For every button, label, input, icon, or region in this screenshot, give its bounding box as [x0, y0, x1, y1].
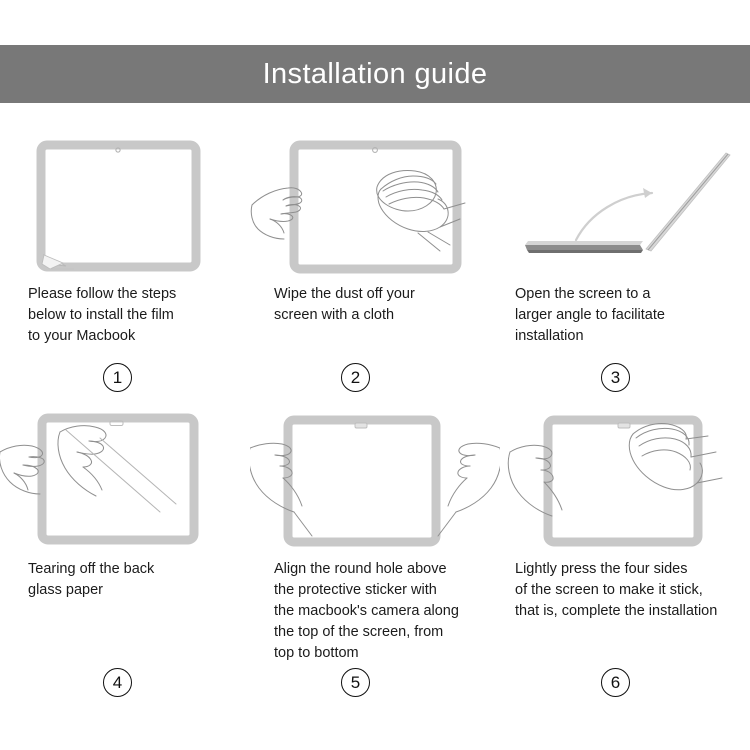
- step-number-badge-1: 1: [103, 363, 132, 392]
- step-panel-3: Open the screen to a larger angle to fac…: [500, 133, 750, 347]
- step-number-badge-2: 2: [341, 363, 370, 392]
- step-3-caption: Open the screen to a larger angle to fac…: [500, 284, 750, 347]
- step-number-badge-6: 6: [601, 668, 630, 697]
- step-number-badge-4: 4: [103, 668, 132, 697]
- step-4-caption: Tearing off the back glass paper: [0, 559, 250, 601]
- step-panel-2: Wipe the dust off your screen with a clo…: [250, 133, 500, 326]
- step-5-caption: Align the round hole above the protectiv…: [250, 559, 500, 664]
- step-number-badge-3: 3: [601, 363, 630, 392]
- step-panel-6: Lightly press the four sides of the scre…: [500, 408, 750, 622]
- step-6-caption: Lightly press the four sides of the scre…: [500, 559, 750, 622]
- page-title: Installation guide: [263, 60, 488, 89]
- step-panel-1: Please follow the steps below to install…: [0, 133, 250, 347]
- step-1-illustration: [0, 133, 250, 278]
- step-3-illustration: [500, 133, 750, 278]
- step-4-illustration: [0, 408, 250, 553]
- step-5-illustration: [250, 408, 500, 553]
- step-1-caption: Please follow the steps below to install…: [0, 284, 250, 347]
- step-6-illustration: [500, 408, 750, 553]
- steps-grid: Please follow the steps below to install…: [0, 103, 750, 750]
- header-bar: Installation guide: [0, 45, 750, 103]
- step-panel-5: Align the round hole above the protectiv…: [250, 408, 500, 664]
- step-number-badge-5: 5: [341, 668, 370, 697]
- installation-guide-page: Installation guide Please follo: [0, 0, 750, 750]
- step-2-caption: Wipe the dust off your screen with a clo…: [250, 284, 500, 326]
- step-panel-4: Tearing off the back glass paper: [0, 408, 250, 601]
- step-2-illustration: [250, 133, 500, 278]
